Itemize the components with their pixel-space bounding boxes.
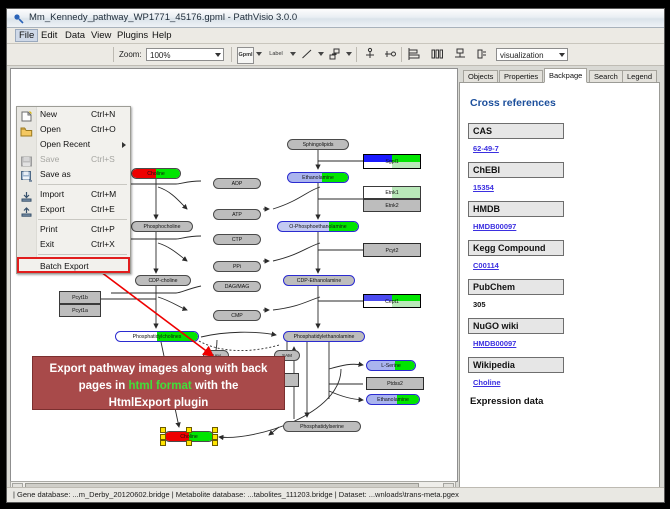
xref-value-wikipedia[interactable]: Choline [473,378,644,387]
selection-handles[interactable] [160,427,218,446]
callout-line-2-suffix: with the [192,380,239,392]
node-label: Etnk2 [385,203,398,209]
file-menu-item-save: Save Ctrl+S [17,152,130,167]
pathway-node-cdp-ethanolamine[interactable]: CDP-Ethanolamine [283,275,355,286]
pathway-node-o-phosphoethanolamine[interactable]: O-Phosphoethanolamine [277,221,359,232]
node-label: Pcyt2 [386,248,399,254]
chevron-down-icon[interactable] [290,52,296,56]
xref-db-wikipedia: Wikipedia [468,357,564,373]
pathway-node-pcyt1b[interactable]: Pcyt1b [59,291,101,304]
toolbar-separator [113,47,114,62]
toolbar-separator [231,47,232,62]
menu-file[interactable]: File [15,29,38,42]
file-menu-item-export[interactable]: Export Ctrl+E [17,202,130,217]
visualization-value: visualization [500,51,544,60]
shape-tool-icon[interactable] [327,47,342,62]
node-label: Sgpl1 [385,159,398,165]
node-label: PPi [233,264,241,270]
node-label: Ethanolamine [377,397,409,403]
zoom-value: 100% [150,51,170,60]
node-label: Choline [147,171,165,177]
file-menu-accel: Ctrl+N [91,109,115,119]
pathway-node-phosphatidylethanolamine[interactable]: Phosphatidylethanolamine [283,331,365,342]
node-label: Ptdss2 [387,381,403,387]
node-label: Cept1 [385,299,399,305]
xref-value-cas[interactable]: 62-49-7 [473,144,644,153]
node-label: CDP-choline [148,278,177,284]
file-menu-accel: Ctrl+X [91,239,115,249]
pathway-node-etnk1[interactable]: Etnk1 [363,186,421,199]
pathway-node-phosphocholine[interactable]: Phosphocholine [131,221,193,232]
node-label: Phosphatidylcholines [133,334,182,340]
pathway-node-phosphatidylcholines[interactable]: Phosphatidylcholines [115,331,199,342]
menu-edit[interactable]: Edit [37,29,61,42]
title-bar: Mm_Kennedy_pathway_WP1771_45176.gpml - P… [7,9,664,28]
pathway-node-ethanolamine-2[interactable]: Ethanolamine [366,394,420,405]
pathway-node-cmp[interactable]: CMP [213,310,261,321]
file-menu-accel: Ctrl+O [91,124,116,134]
stack-icon[interactable] [452,47,467,62]
main-area: Choline Sphingolipids Ethanolamine ADP A… [7,66,664,500]
callout-highlight: html format [128,380,191,392]
graphics-tool-button[interactable]: Gpml [237,47,254,64]
zoom-combo[interactable]: 100% [146,48,224,61]
file-menu-label: New [40,109,57,119]
status-text: | Gene database: ...m_Derby_20120602.bri… [13,490,459,499]
file-menu-item-batch-export[interactable]: Batch Export [17,257,130,273]
toolbar-separator [401,47,402,62]
file-menu-item-import[interactable]: Import Ctrl+M [17,187,130,202]
application-window: Mm_Kennedy_pathway_WP1771_45176.gpml - P… [6,8,665,503]
file-menu-label: Open Recent [40,139,90,149]
file-menu-popup: New Ctrl+N Open Ctrl+O Open Recent Save [16,106,131,274]
file-menu-label: Exit [40,239,54,249]
node-label: Etnk1 [385,190,398,196]
chevron-down-icon[interactable] [318,52,324,56]
toolbar: Zoom: 100% Gpml Label [7,44,664,66]
align-icon[interactable] [406,47,421,62]
pathway-node-ctp[interactable]: CTP [213,234,261,245]
pathway-node-etnk2[interactable]: Etnk2 [363,199,421,212]
node-label: Phosphocholine [144,224,181,230]
label-tool-button[interactable]: Label [265,47,287,62]
file-menu-accel: Ctrl+E [91,204,115,214]
file-menu-item-new[interactable]: New Ctrl+N [17,107,130,122]
export-icon [20,204,33,215]
node-label: L-Serine [381,363,401,369]
xref-value-pubchem: 305 [473,300,644,309]
pathway-anchor-block [283,373,299,387]
menu-view[interactable]: View [87,29,115,42]
node-label: Ethanolamine [302,175,334,181]
xref-db-kegg-compound: Kegg Compound [468,240,564,256]
file-menu-accel: Ctrl+M [91,189,116,199]
save-as-icon [20,169,33,180]
menu-help[interactable]: Help [148,29,176,42]
menu-bar: File Edit Data View Plugins Help [7,28,664,44]
node-label: ADP [232,181,243,187]
file-menu-item-exit[interactable]: Exit Ctrl+X [17,237,130,252]
pathway-node-l-serine[interactable]: L-Serine [366,360,416,371]
xref-db-pubchem: PubChem [468,279,564,295]
toolbar-separator [356,47,357,62]
node-label: CMP [231,313,243,319]
callout-line-2: pages in html format with the [33,378,284,395]
file-menu-item-print[interactable]: Print Ctrl+P [17,222,130,237]
pathway-node-sgpl1[interactable]: Sgpl1 [363,154,421,169]
xref-value-nugo-wiki[interactable]: HMDB00097 [473,339,644,348]
line-tool-icon[interactable] [299,47,314,62]
window-title: Mm_Kennedy_pathway_WP1771_45176.gpml - P… [29,12,297,23]
pathway-node-phosphatidylserine[interactable]: Phosphatidylserine [283,421,361,432]
callout-line-1: Export pathway images along with back [33,361,284,378]
node-label: ATP [232,212,242,218]
chevron-right-icon [122,142,126,148]
screenshot-root: Mm_Kennedy_pathway_WP1771_45176.gpml - P… [0,0,670,509]
pathway-node-dag-mag[interactable]: DAG/MAG [213,281,261,292]
interaction-icon[interactable] [382,47,397,62]
pathway-node-ptdss2[interactable]: Ptdss2 [366,377,424,390]
pathway-node-atp[interactable]: ATP [213,209,261,220]
callout-line-2-prefix: pages in [79,380,129,392]
xref-db-chebi: ChEBI [468,162,564,178]
pathway-node-cdp-choline[interactable]: CDP-choline [135,275,191,286]
file-menu-accel: Ctrl+S [91,154,115,164]
file-menu-label: Open [40,124,61,134]
order-icon[interactable] [474,47,489,62]
node-label: CTP [232,237,242,243]
node-label: Phosphatidylethanolamine [294,334,355,340]
visualization-combo[interactable]: visualization [496,48,568,61]
xref-db-nugo-wiki: NuGO wiki [468,318,564,334]
file-menu-accel: Ctrl+P [91,224,115,234]
node-label: Sphingolipids [303,142,334,148]
menu-plugins[interactable]: Plugins [113,29,152,42]
callout-line-3: HtmlExport plugin [33,395,284,412]
file-menu-label: Print [40,224,57,234]
node-label: Pcyt1a [72,308,88,314]
expression-data-heading: Expression data [470,396,644,407]
pathway-node-sphingolipids[interactable]: Sphingolipids [287,139,349,150]
open-folder-icon [20,124,33,135]
file-menu-label: Save [40,154,59,164]
file-menu-item-open[interactable]: Open Ctrl+O [17,122,130,137]
file-menu-label: Batch Export [40,261,89,271]
pathway-node-adp[interactable]: ADP [213,178,261,189]
node-label: Pcyt1b [72,295,88,301]
annotation-callout: Export pathway images along with back pa… [32,356,285,410]
xref-value-chebi[interactable]: 15354 [473,183,644,192]
pathway-node-pcyt2[interactable]: Pcyt2 [363,243,421,257]
chevron-down-icon [215,53,221,57]
xref-db-hmdb: HMDB [468,201,564,217]
save-disk-icon [20,154,33,165]
file-menu-label: Export [40,204,65,214]
file-menu-item-save-as[interactable]: Save as [17,167,130,182]
xref-value-kegg-compound[interactable]: C00114 [473,261,644,270]
anchor-icon[interactable] [362,47,377,62]
side-panel-tabs: Objects Properties Backpage Search Legen… [459,68,660,83]
pathway-node-cept1[interactable]: Cept1 [363,294,421,308]
chevron-down-icon[interactable] [346,52,352,56]
side-panel: Objects Properties Backpage Search Legen… [459,68,660,493]
import-icon [20,189,33,200]
status-bar: | Gene database: ...m_Derby_20120602.bri… [7,487,664,502]
xref-db-cas: CAS [468,123,564,139]
pathvisio-app-icon [13,12,25,24]
file-menu-label: Save as [40,169,71,179]
node-label: CDP-Ethanolamine [297,278,341,284]
node-label: DAG/MAG [225,284,250,290]
zoom-label: Zoom: [119,50,142,59]
backpage-content: Cross references CAS 62-49-7 ChEBI 15354… [459,82,660,493]
chevron-down-icon[interactable] [256,52,262,56]
node-label: Phosphatidylserine [300,424,344,430]
distribute-icon[interactable] [429,47,444,62]
tab-backpage[interactable]: Backpage [544,68,587,83]
pathway-node-ppi[interactable]: PPi [213,261,261,272]
node-label: O-Phosphoethanolamine [289,224,346,230]
xref-value-hmdb[interactable]: HMDB00097 [473,222,644,231]
new-document-icon [20,109,33,120]
menu-data[interactable]: Data [61,29,89,42]
cross-references-heading: Cross references [470,97,644,109]
file-menu-item-open-recent[interactable]: Open Recent [17,137,130,152]
file-menu-label: Import [40,189,64,199]
chevron-down-icon [559,53,565,57]
pathway-node-ethanolamine-1[interactable]: Ethanolamine [287,172,349,183]
pathway-node-pcyt1a[interactable]: Pcyt1a [59,304,101,317]
pathway-node-choline[interactable]: Choline [131,168,181,179]
